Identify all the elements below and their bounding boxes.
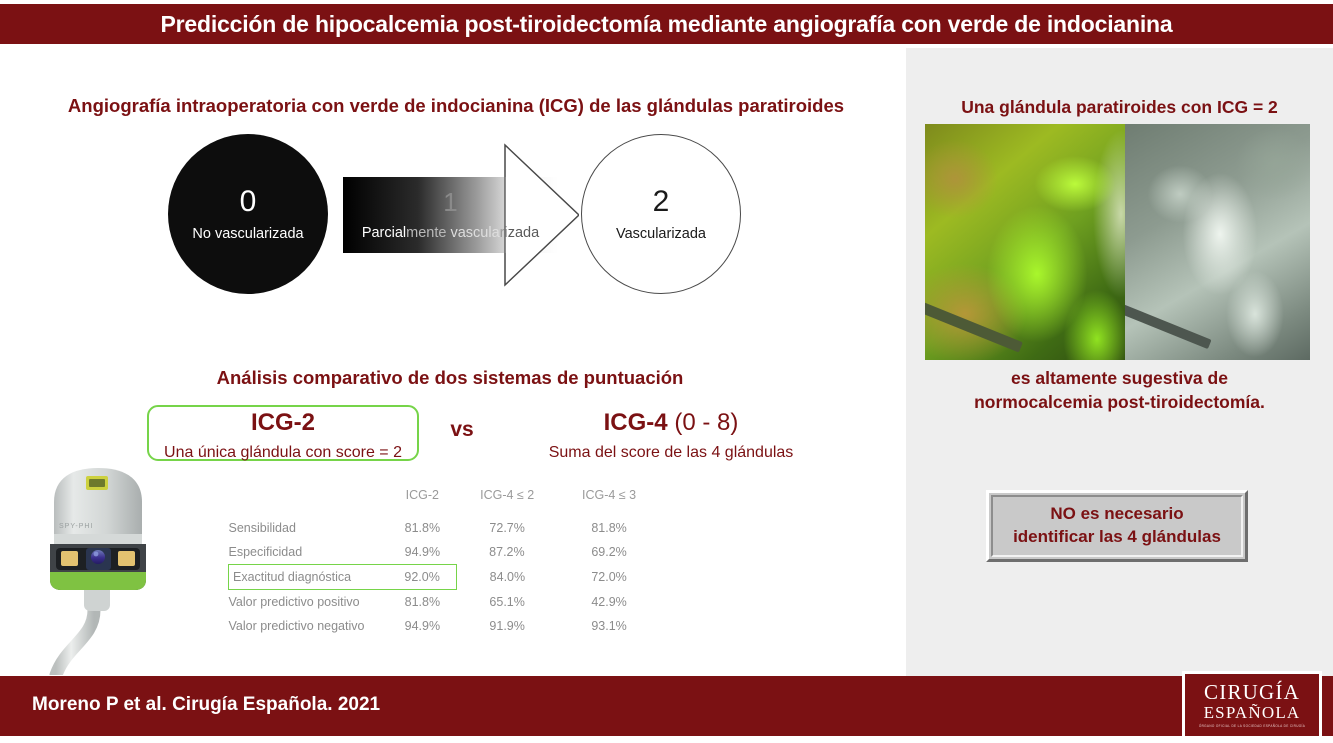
table-row: Valor predictivo positivo 81.8% 65.1% 42… bbox=[229, 590, 661, 615]
score-0-circle: 0 No vascularizada bbox=[168, 134, 328, 294]
fluorescence-grayscale-image bbox=[1125, 124, 1310, 360]
score-0-label: No vascularizada bbox=[192, 226, 303, 242]
conclusion-callout-inner: NO es necesario identificar las 4 glándu… bbox=[991, 495, 1243, 557]
versus-label: vs bbox=[432, 418, 492, 442]
metric-icg2: 94.9% bbox=[389, 614, 457, 638]
citation-text: Moreno P et al. Cirugía Española. 2021 bbox=[32, 694, 380, 716]
right-panel-heading: Una glándula paratiroides con ICG = 2 bbox=[906, 97, 1333, 118]
icg2-title: ICG-2 bbox=[147, 409, 419, 437]
score-0-value: 0 bbox=[240, 187, 257, 217]
page-title: Predicción de hipocalcemia post-tiroidec… bbox=[161, 11, 1173, 38]
surgical-instrument-icon bbox=[1125, 302, 1212, 349]
metric-label: Valor predictivo positivo bbox=[229, 590, 389, 615]
metric-icg4-le3: 42.9% bbox=[558, 590, 660, 615]
metric-icg2: 81.8% bbox=[389, 590, 457, 615]
section-heading-comparison: Análisis comparativo de dos sistemas de … bbox=[150, 367, 750, 389]
metric-icg4-le2: 72.7% bbox=[456, 516, 558, 540]
title-bar: Predicción de hipocalcemia post-tiroidec… bbox=[0, 4, 1333, 44]
score-1-gradient-arrow bbox=[343, 143, 579, 287]
icg4-title: ICG-4 (0 - 8) bbox=[521, 409, 821, 437]
column-header-metric bbox=[229, 488, 389, 516]
caption-line-1: es altamente sugestiva de bbox=[906, 366, 1333, 390]
table-header-row: ICG-2 ICG-4 ≤ 2 ICG-4 ≤ 3 bbox=[229, 488, 661, 516]
conclusion-callout-box: NO es necesario identificar las 4 glándu… bbox=[986, 490, 1248, 562]
metric-label: Sensibilidad bbox=[229, 516, 389, 540]
logo-line-3: ÓRGANO OFICIAL DE LA SOCIEDAD ESPAÑOLA D… bbox=[1199, 723, 1305, 728]
metric-label: Especificidad bbox=[229, 540, 389, 565]
metric-icg4-le3: 69.2% bbox=[558, 540, 660, 565]
score-2-label: Vascularizada bbox=[616, 226, 706, 242]
right-panel-caption: es altamente sugestiva de normocalcemia … bbox=[906, 366, 1333, 414]
metric-icg4-le2: 84.0% bbox=[456, 565, 558, 590]
metric-icg4-le3: 72.0% bbox=[558, 565, 660, 590]
metric-icg2: 94.9% bbox=[389, 540, 457, 565]
table-row-highlighted: Exactitud diagnóstica 92.0% 84.0% 72.0% bbox=[229, 565, 661, 590]
metric-label: Valor predictivo negativo bbox=[229, 614, 389, 638]
caption-line-2: normocalcemia post-tiroidectomía. bbox=[906, 390, 1333, 414]
icg-angiography-photo bbox=[925, 124, 1310, 360]
column-header-icg4-le2: ICG-4 ≤ 2 bbox=[456, 488, 558, 516]
table-row: Valor predictivo negativo 94.9% 91.9% 93… bbox=[229, 614, 661, 638]
table-row: Sensibilidad 81.8% 72.7% 81.8% bbox=[229, 516, 661, 540]
fluorescence-green-image bbox=[925, 124, 1125, 360]
icg4-title-range: (0 - 8) bbox=[668, 409, 739, 436]
callout-line-2: identificar las 4 glándulas bbox=[1013, 526, 1221, 549]
logo-line-1: CIRUGÍA bbox=[1204, 682, 1300, 703]
surgical-instrument-icon bbox=[925, 300, 1023, 352]
spy-phi-camera-image: SPY-PHI bbox=[32, 460, 202, 675]
column-header-icg4-le3: ICG-4 ≤ 3 bbox=[558, 488, 660, 516]
metric-icg4-le3: 93.1% bbox=[558, 614, 660, 638]
metric-icg2: 81.8% bbox=[389, 516, 457, 540]
metrics-table: ICG-2 ICG-4 ≤ 2 ICG-4 ≤ 3 Sensibilidad 8… bbox=[228, 488, 660, 638]
logo-line-2: ESPAÑOLA bbox=[1204, 704, 1301, 722]
score-2-value: 2 bbox=[653, 187, 670, 217]
callout-line-1: NO es necesario bbox=[1050, 503, 1183, 526]
metric-label: Exactitud diagnóstica bbox=[229, 565, 389, 590]
icg4-subtitle: Suma del score de las 4 glándulas bbox=[521, 444, 821, 462]
column-header-icg2: ICG-2 bbox=[389, 488, 457, 516]
journal-logo: CIRUGÍA ESPAÑOLA ÓRGANO OFICIAL DE LA SO… bbox=[1182, 671, 1322, 739]
svg-text:SPY-PHI: SPY-PHI bbox=[59, 523, 93, 530]
score-2-circle: 2 Vascularizada bbox=[581, 134, 741, 294]
table-row: Especificidad 94.9% 87.2% 69.2% bbox=[229, 540, 661, 565]
slide-canvas: Predicción de hipocalcemia post-tiroidec… bbox=[0, 0, 1333, 743]
metric-icg4-le3: 81.8% bbox=[558, 516, 660, 540]
metric-icg4-le2: 87.2% bbox=[456, 540, 558, 565]
metric-icg4-le2: 91.9% bbox=[456, 614, 558, 638]
icg4-title-bold: ICG-4 bbox=[604, 409, 668, 436]
metric-icg2: 92.0% bbox=[389, 565, 457, 590]
section-heading-angiography: Angiografía intraoperatoria con verde de… bbox=[46, 95, 866, 117]
metric-icg4-le2: 65.1% bbox=[456, 590, 558, 615]
journal-logo-inner: CIRUGÍA ESPAÑOLA ÓRGANO OFICIAL DE LA SO… bbox=[1185, 674, 1319, 736]
